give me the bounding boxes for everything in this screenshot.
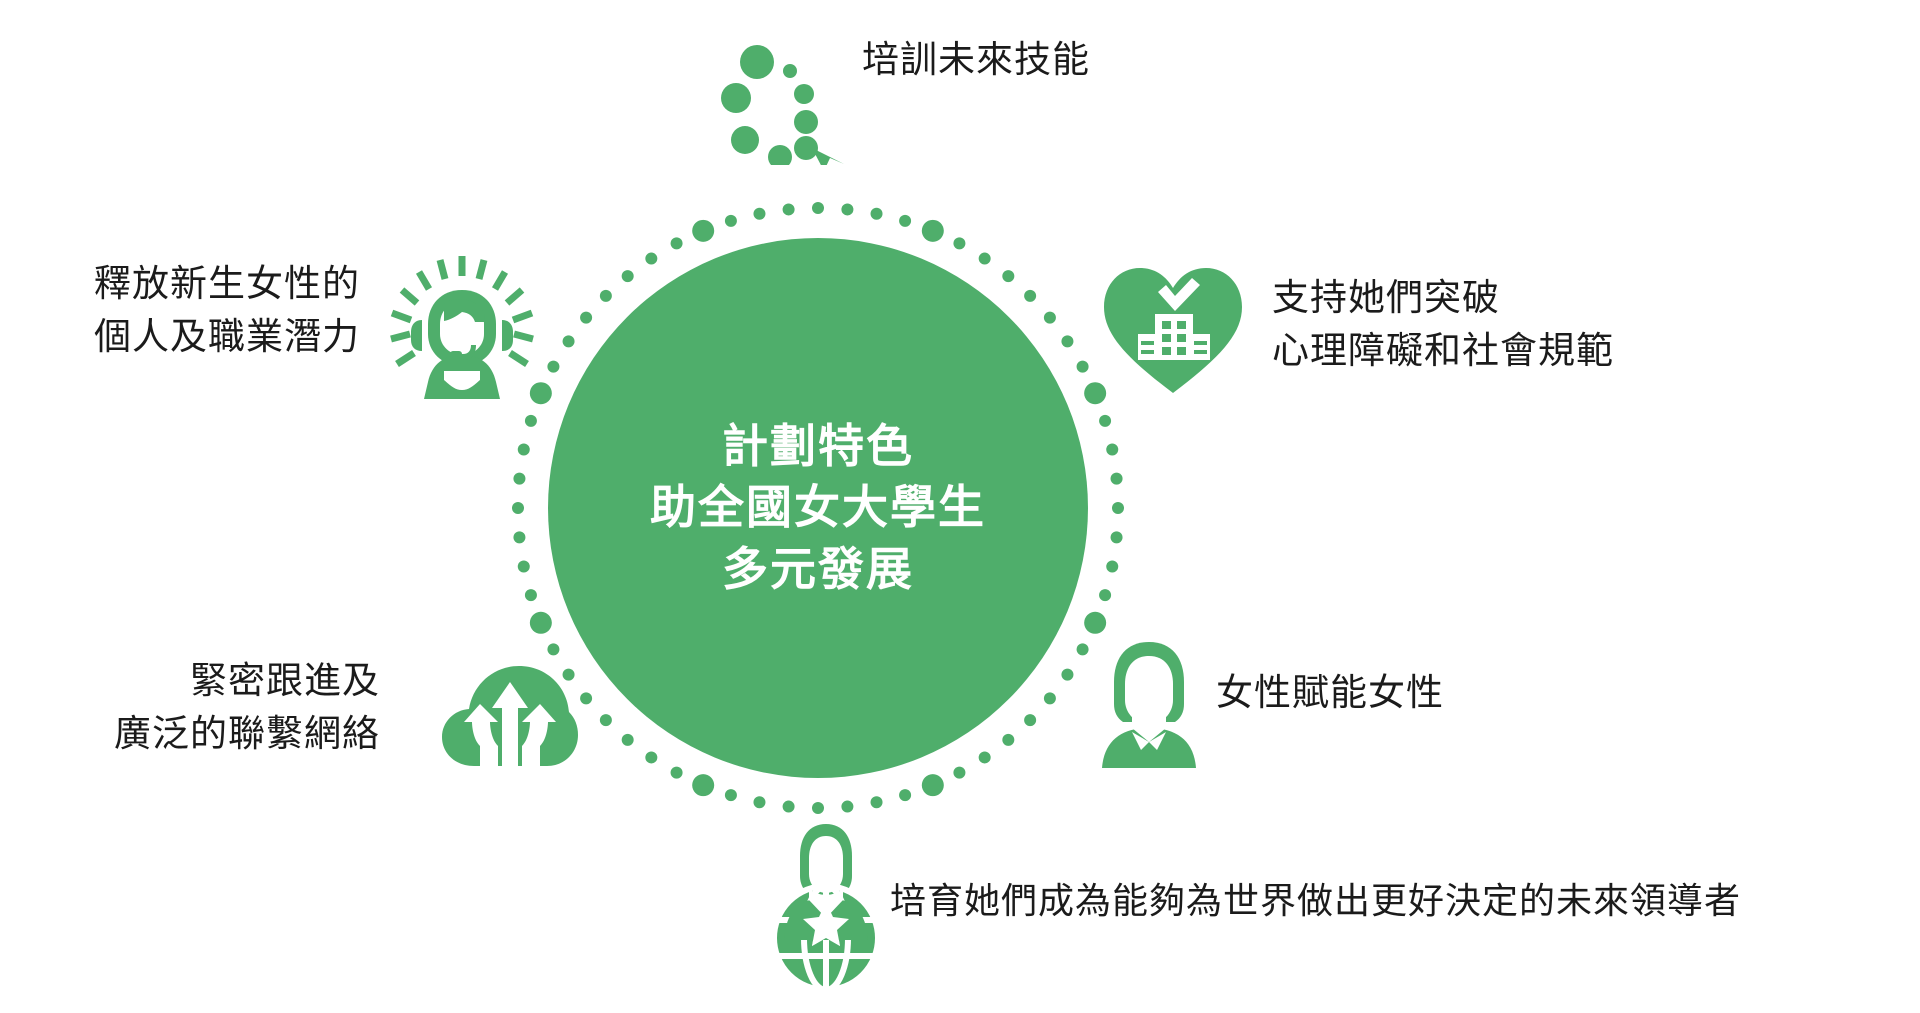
infographic-canvas: 計劃特色 助全國女大學生 多元發展 培訓未來技能 釋放新生女性的 個人及職業潛力 (0, 0, 1920, 1013)
label-line: 培訓未來技能 (862, 34, 1090, 87)
label-line: 支持她們突破 (1272, 272, 1614, 325)
label-line: 廣泛的聯繫網絡 (90, 708, 380, 761)
center-line-2: 助全國女大學生 (650, 477, 986, 539)
label-line: 釋放新生女性的 (40, 258, 360, 311)
label-network: 緊密跟進及 廣泛的聯繫網絡 (90, 655, 380, 760)
label-line: 女性賦能女性 (1216, 667, 1444, 720)
woman-bust-icon (1092, 640, 1207, 770)
center-line-1: 計劃特色 (650, 416, 986, 478)
cloud-arrows-icon (440, 658, 580, 778)
center-line-3: 多元發展 (650, 539, 986, 601)
center-heading: 計劃特色 助全國女大學生 多元發展 (650, 416, 986, 601)
label-unlock-potential: 釋放新生女性的 個人及職業潛力 (40, 258, 360, 363)
heart-building-icon (1098, 262, 1248, 397)
label-line: 緊密跟進及 (90, 655, 380, 708)
label-line: 個人及職業潛力 (40, 311, 360, 364)
label-break-barriers: 支持她們突破 心理障礙和社會規範 (1272, 272, 1614, 377)
center-circle: 計劃特色 助全國女大學生 多元發展 (548, 238, 1088, 778)
headset-woman-icon (388, 252, 536, 402)
label-line: 心理障礙和社會規範 (1272, 325, 1614, 378)
label-future-skills: 培訓未來技能 (862, 34, 1090, 87)
label-women-empower-women: 女性賦能女性 (1216, 667, 1444, 720)
label-future-leaders: 培育她們成為能夠為世界做出更好決定的未來領導者 (890, 875, 1741, 926)
woman-globe-star-icon (768, 820, 884, 992)
dots-cursor-icon (720, 40, 850, 165)
label-line: 培育她們成為能夠為世界做出更好決定的未來領導者 (890, 875, 1741, 926)
